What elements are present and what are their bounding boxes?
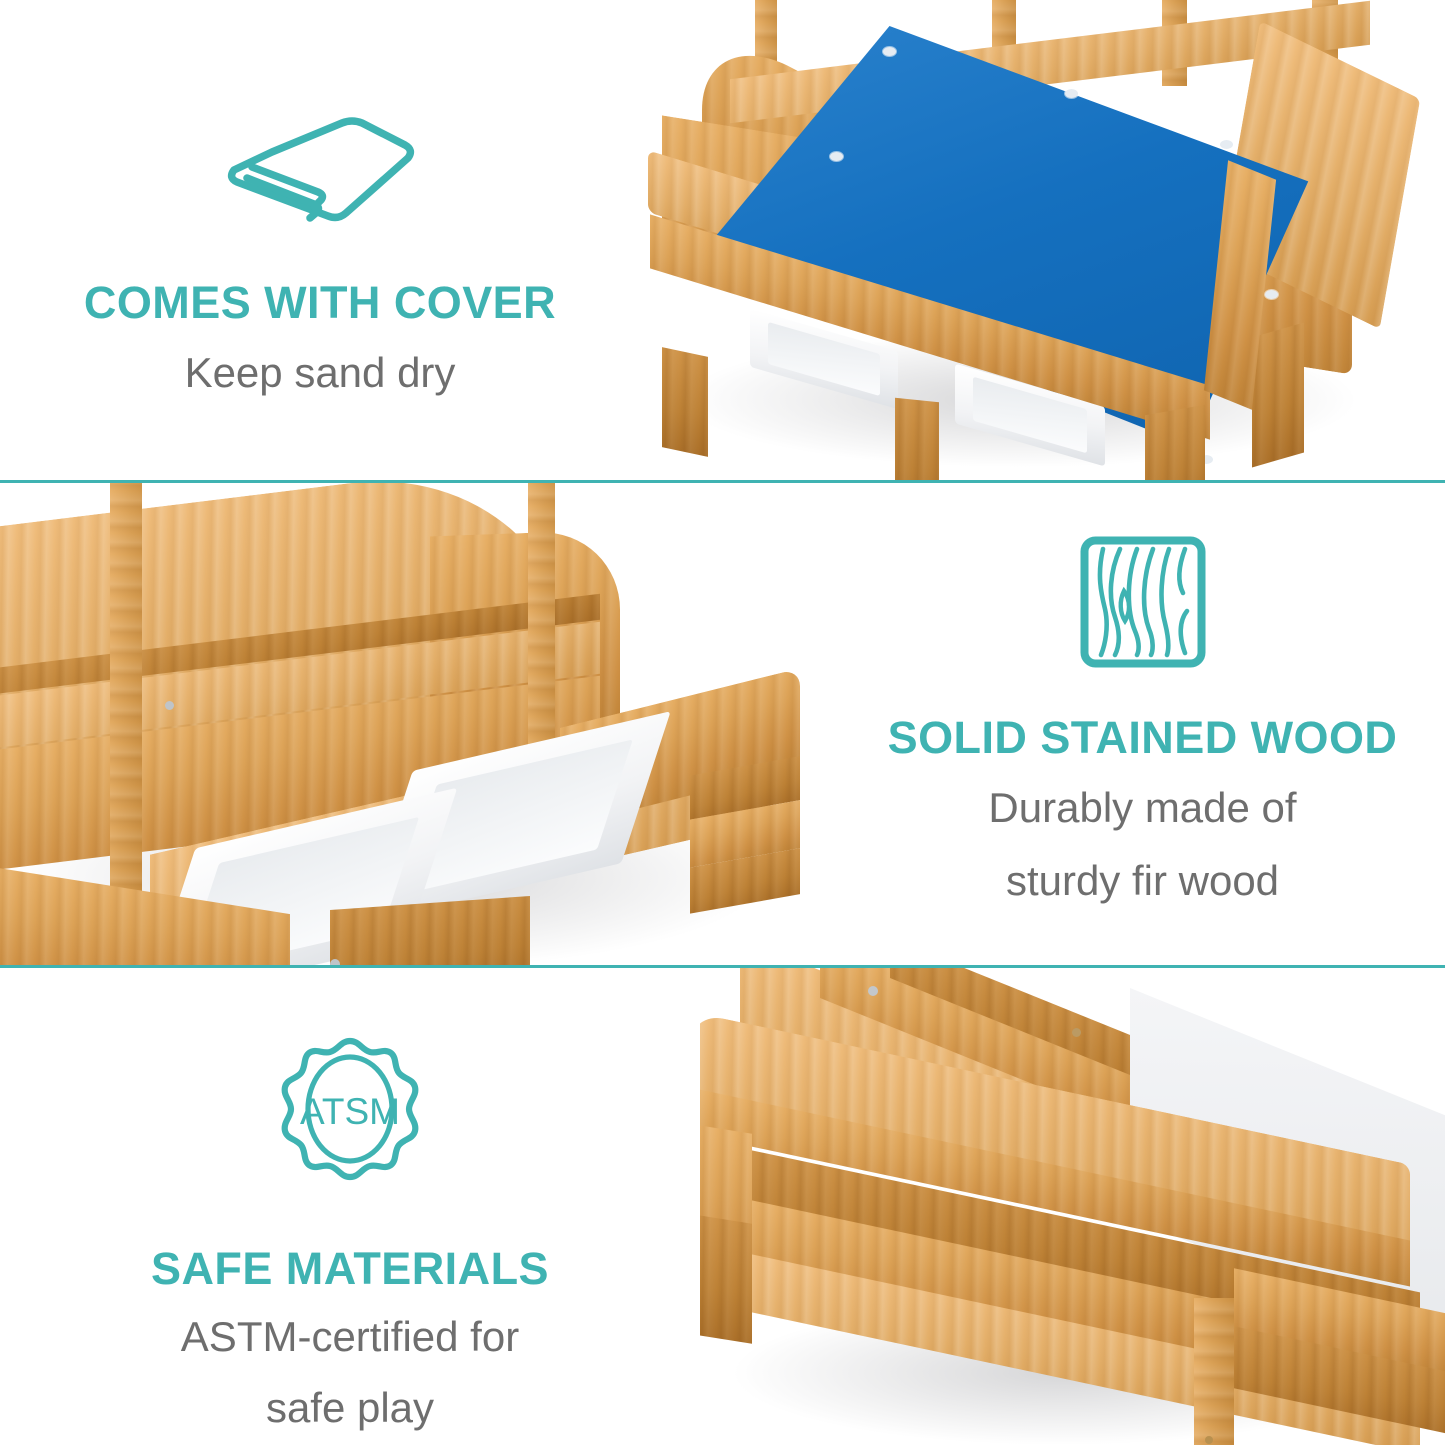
atsm-seal-icon: ATSM: [279, 1036, 421, 1203]
product-photo-bench-with-trays: [0, 483, 800, 966]
feature-text-block: COMES WITH COVER Keep sand dry: [0, 0, 640, 481]
feature-subtitle-line1: ASTM-certified for: [181, 1312, 519, 1362]
product-feature-sheet: COMES WITH COVER Keep sand dry: [0, 0, 1445, 1445]
section-divider: [0, 965, 1445, 968]
feature-subtitle-line2: sturdy fir wood: [1006, 856, 1279, 906]
atsm-seal-label: ATSM: [300, 1091, 400, 1132]
feature-title: SAFE MATERIALS: [151, 1245, 549, 1292]
feature-panel-comes-with-cover: COMES WITH COVER Keep sand dry: [0, 0, 1445, 481]
section-divider: [0, 480, 1445, 483]
feature-subtitle: Keep sand dry: [185, 348, 456, 398]
feature-subtitle-line2: safe play: [266, 1383, 434, 1433]
feature-text-block: ATSM SAFE MATERIALS ASTM-certified for s…: [0, 968, 700, 1445]
feature-panel-safe-materials: ATSM SAFE MATERIALS ASTM-certified for s…: [0, 968, 1445, 1445]
wood-grain-icon: [1079, 535, 1207, 674]
product-photo-sandbox-with-cover: [640, 0, 1445, 481]
product-photo-sandbox-corner: [700, 968, 1445, 1445]
feature-panel-solid-stained-wood: SOLID STAINED WOOD Durably made of sturd…: [0, 483, 1445, 966]
feature-title: COMES WITH COVER: [84, 279, 556, 326]
feature-subtitle-line1: Durably made of: [988, 783, 1296, 833]
feature-title: SOLID STAINED WOOD: [888, 714, 1398, 761]
folded-cover-icon: [222, 112, 418, 241]
feature-text-block: SOLID STAINED WOOD Durably made of sturd…: [840, 483, 1445, 966]
